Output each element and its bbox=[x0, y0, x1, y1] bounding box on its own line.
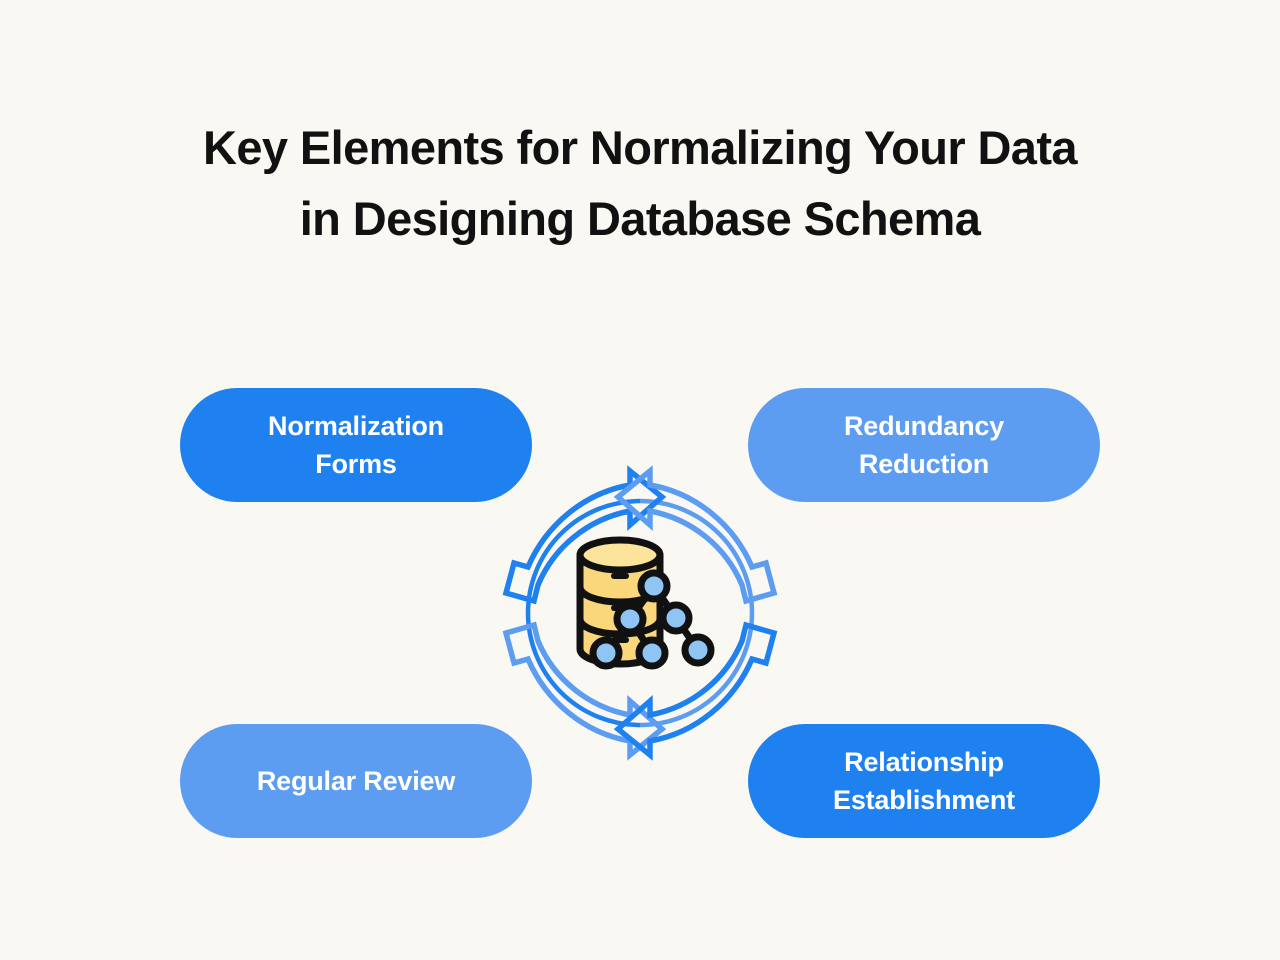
database-network-icon bbox=[580, 540, 711, 666]
label-line-2: Establishment bbox=[833, 781, 1015, 819]
node-label-relationship-establishment: Relationship Establishment bbox=[833, 743, 1015, 820]
label-line-1: Redundancy bbox=[844, 407, 1004, 445]
node-label-regular-review: Regular Review bbox=[257, 762, 455, 800]
node-normalization-forms[interactable]: Normalization Forms bbox=[180, 388, 532, 502]
node-relationship-establishment[interactable]: Relationship Establishment bbox=[748, 724, 1100, 838]
center-cycle-graphic bbox=[480, 453, 800, 773]
label-line-1: Normalization bbox=[268, 407, 444, 445]
page-title: Key Elements for Normalizing Your Data i… bbox=[90, 112, 1190, 255]
title-line-1: Key Elements for Normalizing Your Data bbox=[90, 112, 1190, 183]
node-label-normalization-forms: Normalization Forms bbox=[268, 407, 444, 484]
node-redundancy-reduction[interactable]: Redundancy Reduction bbox=[748, 388, 1100, 502]
label-line-1: Relationship bbox=[833, 743, 1015, 781]
node-label-redundancy-reduction: Redundancy Reduction bbox=[844, 407, 1004, 484]
infographic-canvas: Key Elements for Normalizing Your Data i… bbox=[0, 0, 1280, 960]
title-line-2: in Designing Database Schema bbox=[90, 183, 1190, 254]
label-line-2: Forms bbox=[268, 445, 444, 483]
label-line-2: Reduction bbox=[844, 445, 1004, 483]
label-line-1: Regular Review bbox=[257, 762, 455, 800]
node-regular-review[interactable]: Regular Review bbox=[180, 724, 532, 838]
